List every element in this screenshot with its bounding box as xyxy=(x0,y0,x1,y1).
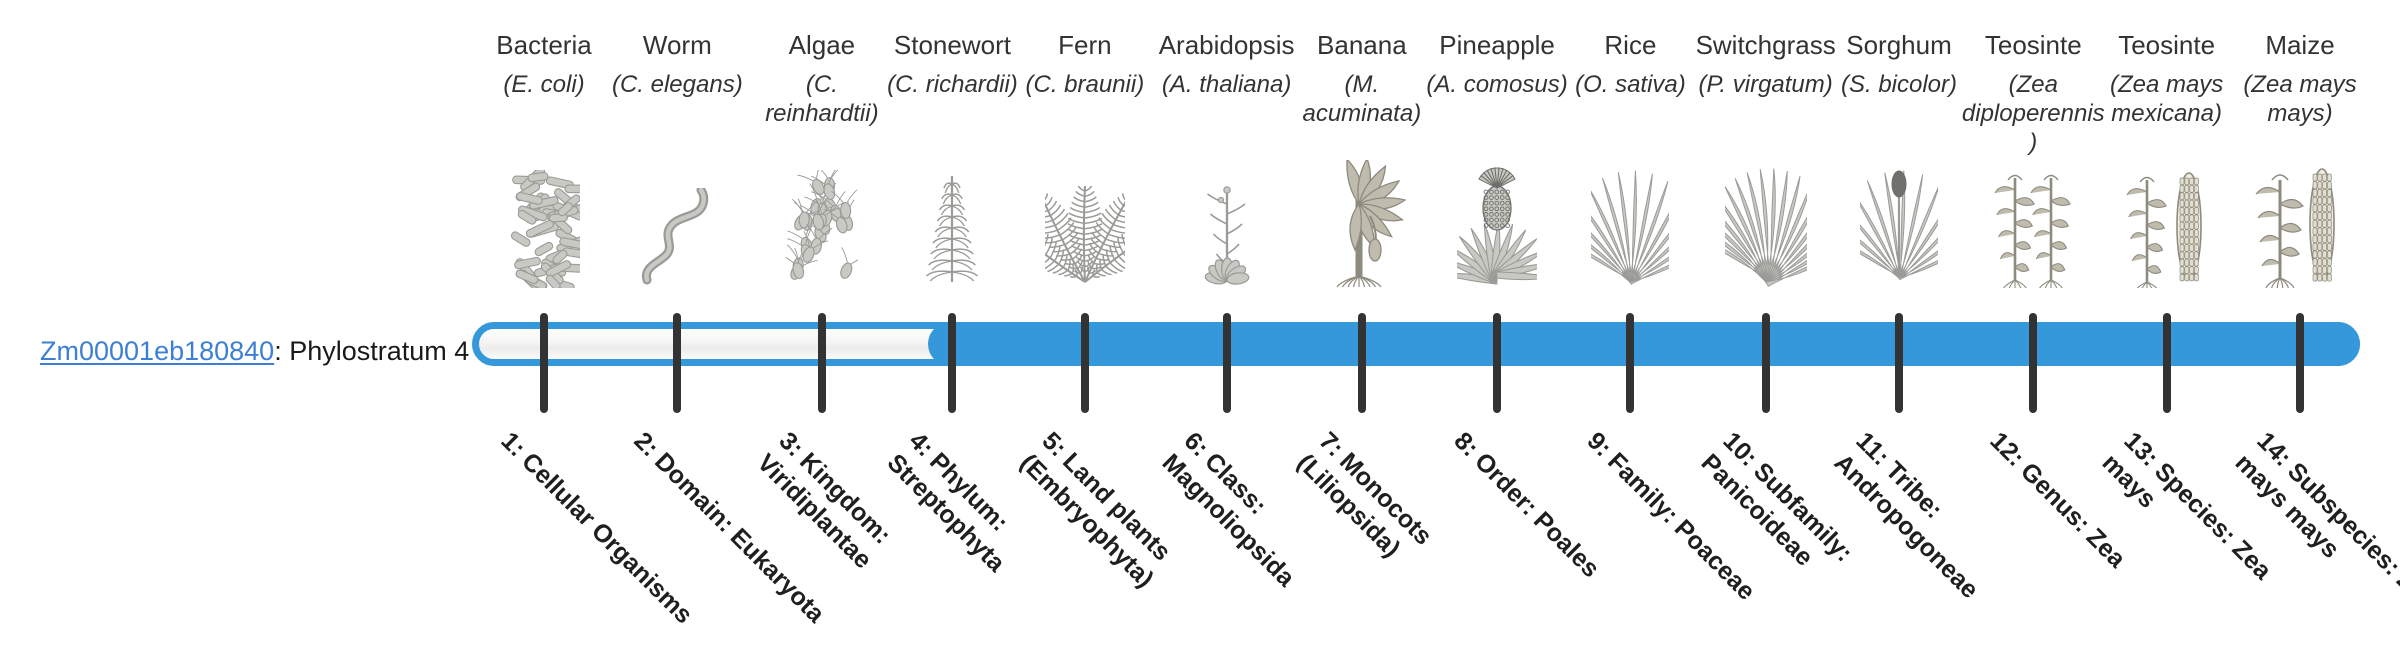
species-common-name: Teosinte xyxy=(2092,28,2242,62)
species-scientific-name: (C. braunii) xyxy=(1010,70,1160,99)
species-scientific-name: (C. elegans) xyxy=(602,70,752,99)
phylostratum-tick-3[interactable] xyxy=(818,313,826,413)
arabidopsis-rosette-illustration xyxy=(1167,168,1287,288)
teosinte-mexicana-illustration xyxy=(2107,168,2227,288)
phylostratum-bar-fill xyxy=(928,322,2360,366)
phylostratum-tick-14[interactable] xyxy=(2296,313,2304,413)
species-common-name: Switchgrass xyxy=(1691,28,1841,62)
species-column-12: Teosinte(Zea diploperennis) xyxy=(1958,28,2108,157)
species-column-6: Arabidopsis(A. thaliana) xyxy=(1152,28,1302,99)
species-scientific-name: (C. richardii) xyxy=(877,70,1027,99)
species-common-name: Fern xyxy=(1010,28,1160,62)
phylostratum-tick-7[interactable] xyxy=(1358,313,1366,413)
species-common-name: Pineapple xyxy=(1422,28,1572,62)
gene-phylostratum-value: Phylostratum 4 xyxy=(289,336,469,366)
species-common-name: Algae xyxy=(747,28,897,62)
species-scientific-name: (O. sativa) xyxy=(1555,70,1705,99)
species-column-10: Switchgrass(P. virgatum) xyxy=(1691,28,1841,99)
phylostratum-tick-11[interactable] xyxy=(1895,313,1903,413)
rice-plant-illustration xyxy=(1570,168,1690,288)
species-scientific-name: (A. comosus) xyxy=(1422,70,1572,99)
gene-phylostratum-label: Zm00001eb180840: Phylostratum 4 xyxy=(40,335,440,367)
nematode-worm-illustration xyxy=(617,168,737,288)
gene-label-separator: : xyxy=(274,336,289,366)
species-column-9: Rice(O. sativa) xyxy=(1555,28,1705,99)
species-column-11: Sorghum(S. bicolor) xyxy=(1824,28,1974,99)
species-scientific-name: (S. bicolor) xyxy=(1824,70,1974,99)
phylostratum-tick-2[interactable] xyxy=(673,313,681,413)
phylostratum-tick-13[interactable] xyxy=(2163,313,2171,413)
species-scientific-name: (E. coli) xyxy=(469,70,619,99)
switchgrass-plant-illustration xyxy=(1706,168,1826,288)
species-column-8: Pineapple(A. comosus) xyxy=(1422,28,1572,99)
species-common-name: Rice xyxy=(1555,28,1705,62)
phylostratum-tick-9[interactable] xyxy=(1626,313,1634,413)
species-column-3: Algae(C. reinhardtii) xyxy=(747,28,897,128)
species-scientific-name: (C. reinhardtii) xyxy=(747,70,897,128)
species-common-name: Banana xyxy=(1287,28,1437,62)
species-common-name: Stonewort xyxy=(877,28,1027,62)
maize-plant-and-ear-illustration xyxy=(2240,168,2360,288)
phylostratum-tick-4[interactable] xyxy=(948,313,956,413)
banana-plant-illustration xyxy=(1302,168,1422,288)
stonewort-alga-illustration xyxy=(892,168,1012,288)
species-column-14: Maize(Zea mays mays) xyxy=(2225,28,2375,128)
species-common-name: Teosinte xyxy=(1958,28,2108,62)
phylostratum-timeline-figure: Zm00001eb180840: Phylostratum 4 Bacteria… xyxy=(0,0,2400,580)
species-common-name: Maize xyxy=(2225,28,2375,62)
phylostratum-tick-12[interactable] xyxy=(2029,313,2037,413)
species-scientific-name: (A. thaliana) xyxy=(1152,70,1302,99)
species-column-1: Bacteria(E. coli) xyxy=(469,28,619,99)
species-common-name: Worm xyxy=(602,28,752,62)
phylostratum-tick-1[interactable] xyxy=(540,313,548,413)
species-common-name: Bacteria xyxy=(469,28,619,62)
phylostratum-tick-6[interactable] xyxy=(1223,313,1231,413)
species-column-7: Banana(M. acuminata) xyxy=(1287,28,1437,128)
species-common-name: Sorghum xyxy=(1824,28,1974,62)
bacteria-rods-illustration xyxy=(484,168,604,288)
pineapple-plant-illustration xyxy=(1437,168,1557,288)
teosinte-diploperennis-illustration xyxy=(1973,168,2093,288)
fern-frond-illustration xyxy=(1025,168,1145,288)
phylostratum-tick-10[interactable] xyxy=(1762,313,1770,413)
species-scientific-name: (Zea mays mexicana) xyxy=(2092,70,2242,128)
species-scientific-name: (Zea mays mays) xyxy=(2225,70,2375,128)
gene-id-link[interactable]: Zm00001eb180840 xyxy=(40,336,274,366)
species-column-5: Fern(C. braunii) xyxy=(1010,28,1160,99)
species-column-2: Worm(C. elegans) xyxy=(602,28,752,99)
phylostratum-tick-8[interactable] xyxy=(1493,313,1501,413)
species-scientific-name: (M. acuminata) xyxy=(1287,70,1437,128)
species-scientific-name: (Zea diploperennis) xyxy=(1958,70,2108,157)
phylostratum-tick-5[interactable] xyxy=(1081,313,1089,413)
sorghum-plant-illustration xyxy=(1839,168,1959,288)
species-scientific-name: (P. virgatum) xyxy=(1691,70,1841,99)
species-column-4: Stonewort(C. richardii) xyxy=(877,28,1027,99)
species-column-13: Teosinte(Zea mays mexicana) xyxy=(2092,28,2242,128)
species-common-name: Arabidopsis xyxy=(1152,28,1302,62)
green-algae-cells-illustration xyxy=(762,168,882,288)
